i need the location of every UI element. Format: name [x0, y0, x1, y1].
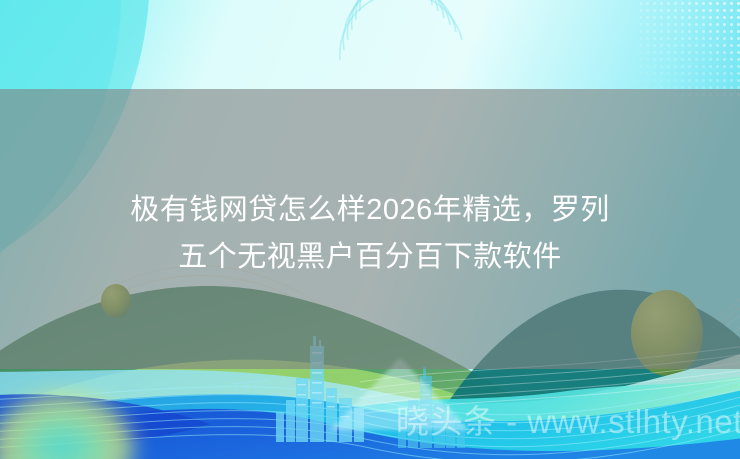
- poster-canvas: 极有钱网贷怎么样2026年精选，罗列 五个无视黑户百分百下款软件 晓头条 - w…: [0, 0, 740, 459]
- background-artwork: [0, 0, 740, 459]
